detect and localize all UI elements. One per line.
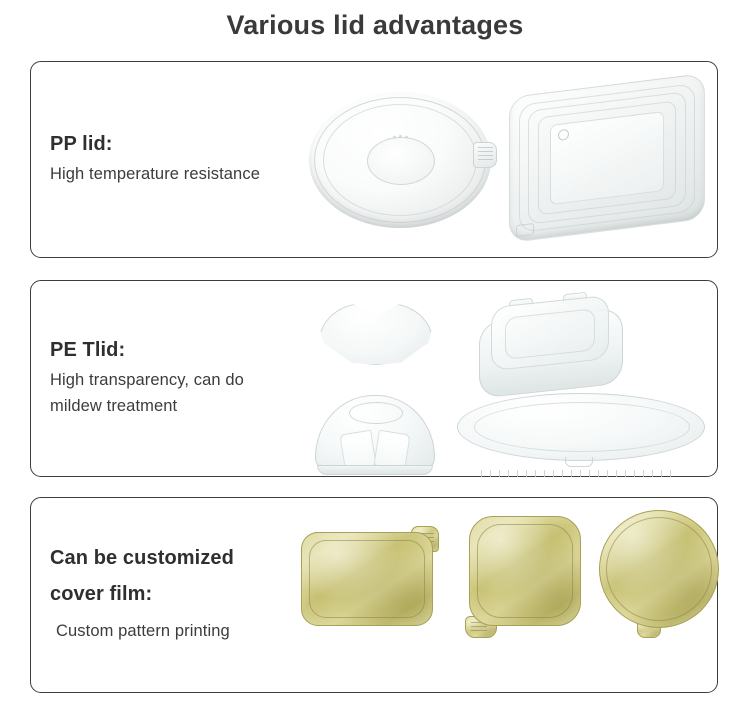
rectangular-pp-lid-image bbox=[509, 73, 705, 243]
gold-square-foil-inner-line bbox=[477, 524, 573, 618]
round-pp-lid-image bbox=[309, 92, 491, 228]
gold-round-foil-lid-image bbox=[599, 510, 721, 638]
round-lid-center-hub bbox=[367, 137, 435, 185]
dome-lid-top-circle bbox=[349, 402, 403, 424]
gold-square-foil-body bbox=[469, 516, 581, 626]
rect-lid-corner-notch bbox=[516, 223, 534, 237]
round-dome-lid-image bbox=[315, 395, 433, 475]
oval-lid-rim-teeth bbox=[481, 470, 679, 477]
dome-lid-cap bbox=[315, 395, 435, 471]
oval-lid-tab bbox=[565, 457, 593, 467]
square-flat-lid-image bbox=[479, 297, 621, 393]
page-title: Various lid advantages bbox=[0, 8, 750, 42]
card-custom-cover-film-figures bbox=[297, 498, 717, 692]
oval-lid-top bbox=[457, 393, 705, 461]
heart-lid-dome bbox=[319, 303, 433, 365]
gold-round-foil-inner-line bbox=[606, 517, 712, 621]
card-pp-lid-figures bbox=[297, 62, 717, 257]
oval-flat-lid-image bbox=[457, 393, 703, 479]
card-pe-t-lid-figures bbox=[297, 281, 717, 476]
rect-lid-panel bbox=[550, 111, 664, 205]
gold-rect-foil-inner-line bbox=[309, 540, 425, 618]
gold-rectangular-foil-lid-image bbox=[301, 526, 439, 624]
gold-round-foil-body bbox=[599, 510, 719, 628]
dome-lid-foot bbox=[317, 465, 433, 475]
round-lid-side-tab bbox=[473, 142, 497, 168]
oval-lid-inner-panel bbox=[474, 402, 690, 452]
card-custom-cover-film: Can be customized cover film: Custom pat… bbox=[30, 497, 718, 693]
card-pe-t-lid: PE Tlid: High transparency, can do milde… bbox=[30, 280, 718, 477]
rect-lid-body bbox=[509, 73, 705, 243]
heart-dome-lid-image bbox=[315, 303, 435, 389]
gold-rect-foil-body bbox=[301, 532, 433, 626]
gold-square-foil-lid-image bbox=[465, 516, 583, 638]
card-pp-lid: PP lid: High temperature resistance bbox=[30, 61, 718, 258]
